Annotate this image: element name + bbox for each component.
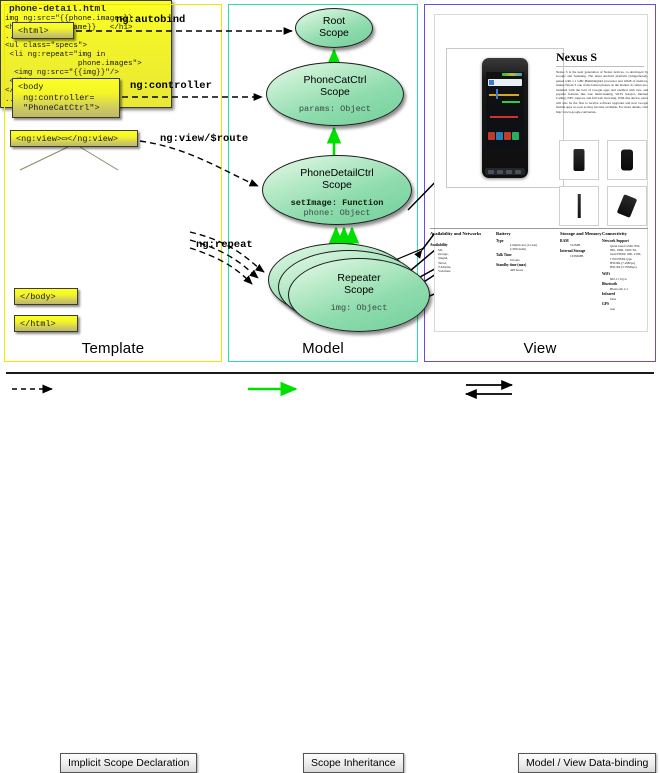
spec-label-3-1: WiFi (602, 272, 610, 276)
phone-wire-2 (496, 89, 498, 99)
code-box-ngview: <ng:view>▭</ng:view> (10, 130, 138, 147)
spec-heading-0: Availability and Networks (430, 231, 486, 236)
spec-values-3-3: false (610, 297, 616, 301)
scope-root-line2: Scope (296, 28, 372, 40)
spec-label-3-0: Network Support (602, 239, 629, 243)
phone-navbar (485, 168, 525, 175)
thumb-phone-front (574, 149, 585, 171)
view-product-description: Nexus S is the next generation of Nexus … (556, 70, 648, 132)
phone-wire-3 (502, 101, 520, 103)
spec-values-3-0: Quad-band GSM: 850,900, 1800, 1900 Tri-b… (610, 244, 652, 269)
spec-heading-2: Storage and Memory (560, 231, 602, 236)
spec-label-1-0: Type (496, 239, 504, 243)
spec-values-2-1: 16384MB (570, 254, 583, 258)
spec-values-1-0: Lithium Ion (Li-Ion)(1500 mAh) (510, 243, 564, 251)
spec-values-1-1: 6 hours (510, 258, 520, 262)
phone-wire-1 (489, 94, 519, 96)
code-box-end-body: </body> (14, 288, 78, 305)
view-spec-table: Availability and Networks Availability M… (430, 231, 648, 317)
scope-phonecatctrl: PhoneCatCtrl Scope params: Object (266, 62, 404, 126)
thumb-phone-back (621, 150, 633, 171)
thumb-phone-angled (617, 194, 637, 218)
phone-searchbar (488, 79, 522, 86)
scope-root: Root Scope (295, 8, 373, 48)
scope-cat-line1: PhoneCatCtrl (267, 75, 403, 87)
spec-heading-1: Battery (496, 231, 511, 236)
spec-heading-3: Connectivity (602, 231, 627, 236)
scope-cat-attr-params: params: Object (267, 104, 403, 114)
phone-screen (486, 72, 524, 148)
scope-detail-line1: PhoneDetailCtrl (263, 168, 411, 180)
spec-label-3-4: GPS (602, 302, 609, 306)
edge-label-route: ng:view/$route (160, 133, 248, 145)
spec-values-1-2: 428 hours (510, 268, 523, 272)
phone-wire-4 (490, 116, 518, 118)
spec-label-2-1: Internal Storage (560, 249, 585, 253)
view-thumbnail-3[interactable] (607, 186, 647, 226)
diagram-canvas: <html> <body ng:controller= "PhoneCatCtr… (0, 0, 660, 420)
column-label-template: Template (4, 340, 222, 357)
spec-label-0-0: Availability (430, 243, 448, 247)
phone-statusbar (502, 73, 522, 76)
code-box-html: <html> (12, 22, 74, 39)
phone-app-icons (488, 127, 522, 136)
legend-item-2: Model / View Data-binding (518, 753, 656, 773)
edge-label-autobind: ng:autobind (116, 14, 185, 26)
edge-label-controller: ng:controller (130, 80, 212, 92)
scope-detail-line2: Scope (263, 180, 411, 192)
scope-repeater-attr-img: img: Object (289, 303, 429, 313)
spec-top-rule (430, 228, 648, 229)
thumb-phone-side (578, 194, 581, 218)
spec-values-3-1: 802.11 b/g/n (610, 277, 627, 281)
scope-cat-line2: Scope (267, 87, 403, 99)
spec-values-3-2: Bluetooth 2.1 (610, 287, 628, 291)
legend-item-1: Scope Inheritance (303, 753, 404, 773)
legend-divider (6, 372, 654, 374)
spec-label-2-0: RAM (560, 239, 569, 243)
view-title-rule (556, 66, 644, 67)
spec-label-3-2: Bluetooth (602, 282, 617, 286)
scope-phonedetailctrl: PhoneDetailCtrl Scope setImage: Function… (262, 155, 412, 225)
scope-repeater: Repeater Scope img: Object (288, 258, 430, 332)
legend-item-0: Implicit Scope Declaration (60, 753, 197, 773)
code-box-body: <body ng:controller= "PhoneCatCtrl"> (12, 78, 120, 118)
scope-root-line1: Root (296, 16, 372, 28)
spec-label-1-1: Talk Time (496, 253, 512, 257)
column-label-model: Model (228, 340, 418, 357)
scope-repeater-line1: Repeater (289, 273, 429, 285)
spec-label-3-3: Infrared (602, 292, 615, 296)
phone-main-image (482, 58, 528, 178)
spec-values-0-0: M1,Orange,Singtel,Telcel,T-Mobile,Vodafo… (438, 248, 482, 273)
view-product-title: Nexus S (556, 50, 648, 65)
column-label-view: View (424, 340, 656, 357)
spec-values-3-4: true (610, 307, 615, 311)
view-thumbnail-1[interactable] (607, 140, 647, 180)
legend: Implicit Scope Declaration Scope Inherit… (0, 372, 660, 420)
spec-values-2-0: 512MB (570, 243, 580, 247)
legend-arrows (0, 372, 660, 420)
column-template (4, 4, 222, 362)
scope-repeater-line2: Scope (289, 285, 429, 297)
edge-label-repeat: ng:repeat (196, 239, 253, 251)
view-thumbnail-2[interactable] (559, 186, 599, 226)
scope-detail-attr-phone: phone: Object (263, 208, 411, 218)
code-box-end-html: </html> (14, 315, 78, 332)
spec-label-1-2: Standby time (max) (496, 263, 526, 267)
scope-detail-attr-setimage: setImage: Function (263, 198, 411, 208)
view-thumbnail-0[interactable] (559, 140, 599, 180)
